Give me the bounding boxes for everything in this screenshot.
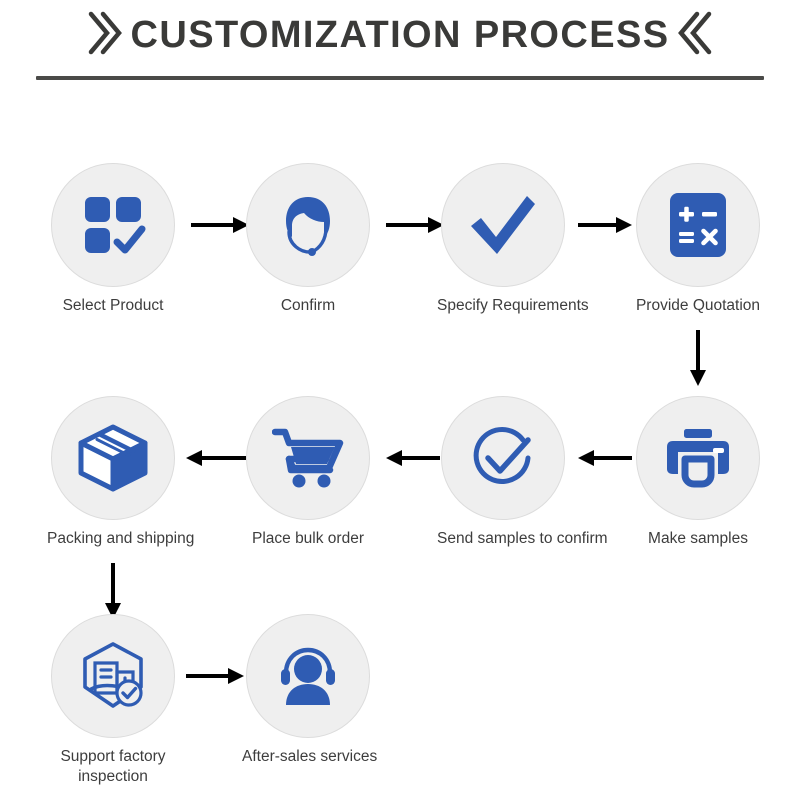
step-label: After-sales services	[242, 747, 374, 767]
step-icon-circle	[246, 614, 370, 738]
step-label: Specify Requirements	[437, 296, 569, 316]
connector-arrow-down	[101, 563, 125, 619]
step-node-place-bulk-order[interactable]: Place bulk order	[242, 396, 374, 549]
circle-check-icon	[468, 423, 538, 493]
step-icon-circle	[441, 163, 565, 287]
shopping-cart-icon	[272, 426, 344, 490]
step-node-specify-requirements[interactable]: Specify Requirements	[437, 163, 569, 316]
connector-arrow-left	[186, 446, 246, 470]
printer-icon	[663, 427, 733, 489]
calculator-icon	[668, 191, 728, 259]
step-icon-circle	[636, 396, 760, 520]
factory-shield-check-icon	[77, 640, 149, 712]
customization-process-infographic: CUSTOMIZATION PROCESS Select Pro	[0, 0, 800, 800]
step-label: Send samples to confirm	[437, 529, 569, 549]
connector-arrow-right	[186, 664, 244, 688]
step-node-after-sales-services[interactable]: After-sales services	[242, 614, 374, 767]
step-label: Support factory inspection	[47, 747, 179, 787]
header-divider	[36, 76, 764, 80]
connector-arrow-right	[578, 213, 632, 237]
checkmark-icon	[467, 192, 539, 258]
connector-arrow-right	[191, 213, 249, 237]
step-label: Select Product	[47, 296, 179, 316]
step-node-support-factory-inspection[interactable]: Support factory inspection	[47, 614, 179, 787]
connector-arrow-left	[386, 446, 440, 470]
step-node-send-samples-to-confirm[interactable]: Send samples to confirm	[437, 396, 569, 549]
step-node-confirm[interactable]: Confirm	[242, 163, 374, 316]
title-row: CUSTOMIZATION PROCESS	[0, 0, 800, 70]
support-person-icon	[273, 643, 343, 709]
step-icon-circle	[51, 396, 175, 520]
step-node-select-product[interactable]: Select Product	[47, 163, 179, 316]
step-icon-circle	[246, 163, 370, 287]
step-node-provide-quotation[interactable]: Provide Quotation	[632, 163, 764, 316]
package-box-icon	[77, 423, 149, 493]
grid-check-icon	[80, 192, 146, 258]
step-label: Make samples	[632, 529, 764, 549]
step-label: Provide Quotation	[632, 296, 764, 316]
page-header: CUSTOMIZATION PROCESS	[0, 0, 800, 92]
headset-agent-icon	[273, 190, 343, 260]
connector-arrow-right	[386, 213, 444, 237]
step-node-make-samples[interactable]: Make samples	[632, 396, 764, 549]
step-label: Confirm	[242, 296, 374, 316]
step-label: Place bulk order	[242, 529, 374, 549]
page-title: CUSTOMIZATION PROCESS	[131, 14, 670, 57]
step-icon-circle	[51, 163, 175, 287]
connector-arrow-left	[578, 446, 632, 470]
step-icon-circle	[441, 396, 565, 520]
double-chevron-left-icon	[675, 10, 717, 61]
step-icon-circle	[636, 163, 760, 287]
step-icon-circle	[246, 396, 370, 520]
double-chevron-right-icon	[83, 10, 125, 61]
connector-arrow-down	[686, 330, 710, 386]
step-icon-circle	[51, 614, 175, 738]
step-node-packing-and-shipping[interactable]: Packing and shipping	[47, 396, 179, 549]
step-label: Packing and shipping	[47, 529, 179, 549]
